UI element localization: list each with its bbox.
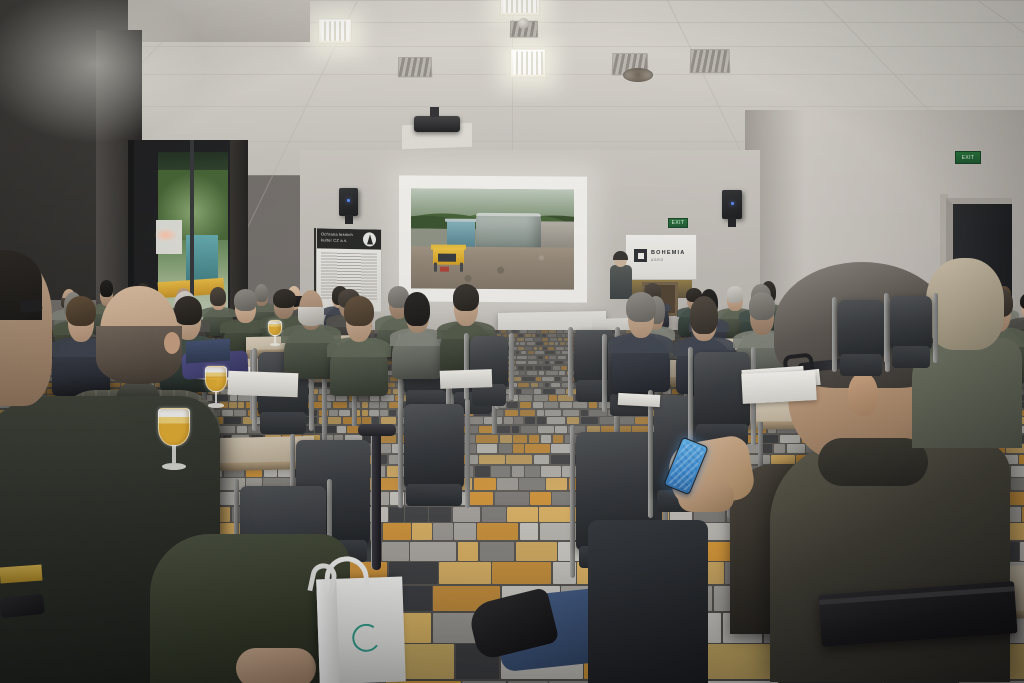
chair-far-right-1[interactable] bbox=[838, 300, 884, 358]
trolley-handle bbox=[372, 430, 381, 570]
trolley-handle-grip bbox=[358, 424, 396, 436]
person-hair bbox=[626, 292, 655, 322]
eyeglasses-icon bbox=[19, 299, 42, 313]
audience-member-near bbox=[392, 296, 442, 376]
chair-frame-right bbox=[933, 293, 938, 363]
beer-glass-bowl bbox=[268, 320, 282, 336]
paper-sheet bbox=[618, 393, 661, 407]
chair-frame-left bbox=[832, 297, 837, 372]
chair-backrest bbox=[890, 296, 932, 350]
chair-frame-left bbox=[464, 333, 469, 401]
yellow-item-on-table bbox=[0, 565, 43, 584]
foreground-hand-left bbox=[236, 648, 316, 683]
papers-on-table-left bbox=[228, 371, 299, 397]
beer-glass-foot bbox=[270, 343, 281, 346]
beer-glass-foot bbox=[208, 403, 225, 408]
audience-member-near bbox=[612, 296, 670, 388]
beer-glass-stem bbox=[172, 445, 176, 462]
person-ear bbox=[164, 332, 180, 354]
beer-glass-third bbox=[268, 320, 282, 346]
person-hair bbox=[404, 292, 429, 326]
chair-frame-left bbox=[884, 293, 889, 363]
beer-glass-bowl bbox=[205, 366, 227, 392]
leaf-ring-icon bbox=[350, 622, 382, 654]
laptop-on-table bbox=[186, 338, 230, 363]
beer-glass-stem bbox=[215, 391, 218, 403]
beer-glass-bowl bbox=[158, 408, 190, 446]
chair-seat bbox=[260, 412, 306, 434]
beer-glass-stem bbox=[274, 336, 276, 343]
room-objects-layer bbox=[0, 0, 1024, 683]
tote-bag-logo bbox=[342, 611, 390, 665]
chair-backrest bbox=[404, 404, 464, 488]
chair-foreground-left-3[interactable] bbox=[404, 404, 464, 488]
chair-seat bbox=[406, 484, 461, 506]
tote-bag-logo-text bbox=[342, 611, 381, 618]
person-ear bbox=[848, 372, 878, 416]
tote-bag bbox=[316, 577, 406, 683]
person-hair bbox=[453, 284, 479, 311]
person-hair bbox=[234, 289, 257, 311]
chair-frame-left bbox=[568, 327, 573, 397]
beer-glass-second bbox=[205, 366, 227, 408]
chair-backrest bbox=[838, 300, 884, 358]
beer-glass-foot bbox=[162, 463, 186, 470]
conference-room-photo: EXIT EXIT bbox=[0, 0, 1024, 683]
audience-member-near bbox=[330, 300, 388, 392]
chair-far-right-2[interactable] bbox=[890, 296, 932, 350]
chair-frame-left bbox=[602, 334, 607, 412]
chair-frame-right bbox=[509, 333, 514, 401]
chair-frame-left bbox=[570, 425, 575, 578]
papers-on-table-right bbox=[741, 370, 816, 404]
chair-base-foreground bbox=[588, 520, 708, 683]
person-hair-fringe bbox=[298, 307, 325, 326]
papers-on-table-mid bbox=[440, 369, 493, 389]
person-hair bbox=[690, 296, 718, 334]
chair-seat bbox=[892, 346, 931, 368]
chair-frame-left bbox=[688, 347, 693, 446]
chair-frame-left bbox=[648, 390, 653, 517]
chair-frame-right bbox=[465, 399, 470, 508]
chair-frame-left bbox=[398, 399, 403, 508]
beer-glass-foreground bbox=[158, 408, 190, 470]
person-hair bbox=[344, 296, 373, 326]
chair-seat bbox=[840, 354, 882, 376]
